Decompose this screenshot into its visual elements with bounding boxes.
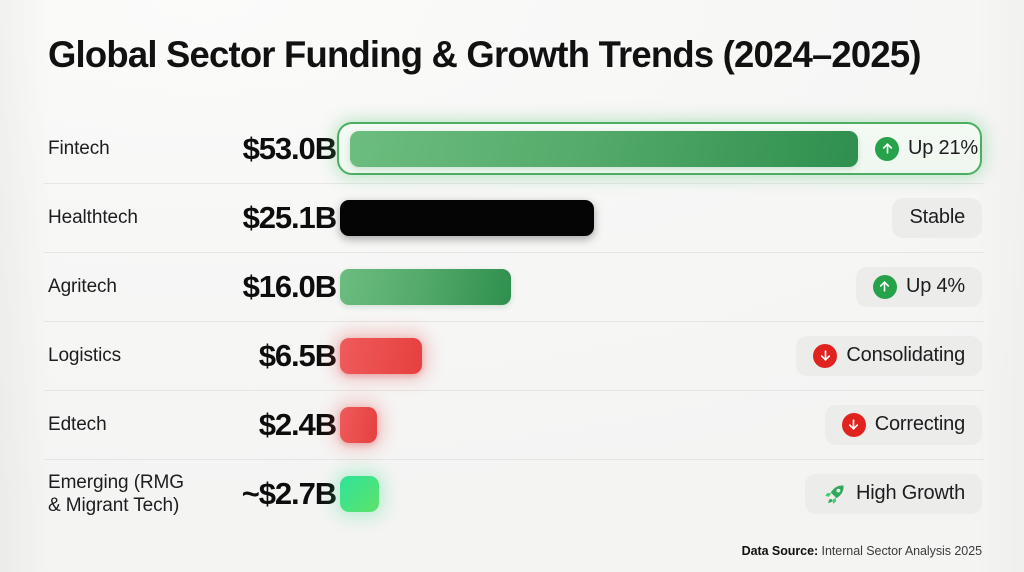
bar-track: Up 4% [340, 252, 982, 321]
table-row: Healthtech$25.1BStable [0, 183, 1024, 252]
funding-bar [340, 269, 511, 305]
status-label: High Growth [856, 482, 965, 505]
table-row: Logistics$6.5BConsolidating [0, 321, 1024, 390]
status-label: Up 4% [906, 275, 965, 298]
status-label: Correcting [875, 413, 965, 436]
data-source-footer: Data Source: Internal Sector Analysis 20… [742, 544, 982, 558]
sector-name: Emerging (RMG& Migrant Tech) [48, 471, 214, 517]
status-badge[interactable]: Up 21% [858, 129, 990, 169]
sector-name-line1: Healthtech [48, 207, 138, 228]
rocket-icon [822, 481, 847, 506]
sector-name-line1: Edtech [48, 414, 107, 435]
chart-card: Global Sector Funding & Growth Trends (2… [0, 0, 1024, 572]
sector-name: Agritech [48, 275, 214, 298]
sector-name-line1: Logistics [48, 345, 121, 366]
status-label: Up 21% [908, 137, 978, 160]
funding-value: $25.1B [214, 200, 340, 236]
arrow-down-circle-icon [813, 344, 837, 368]
status-label: Stable [909, 206, 965, 229]
funding-bar [340, 407, 377, 443]
sector-name: Edtech [48, 413, 214, 436]
table-row: Fintech$53.0BUp 21% [0, 114, 1024, 183]
arrow-up-circle-icon [875, 137, 899, 161]
funding-value: $53.0B [214, 131, 340, 167]
sector-name: Healthtech [48, 206, 214, 229]
funding-bar [340, 338, 422, 374]
funding-value: $2.4B [214, 407, 340, 443]
funding-value: ~$2.7B [214, 476, 340, 512]
status-badge[interactable]: High Growth [805, 474, 982, 514]
sector-name-line1: Fintech [48, 138, 110, 159]
sector-name-line1: Emerging (RMG [48, 472, 184, 493]
status-badge[interactable]: Stable [892, 198, 982, 238]
funding-bar [350, 131, 858, 167]
sector-name: Logistics [48, 344, 214, 367]
page-title: Global Sector Funding & Growth Trends (2… [48, 34, 974, 76]
sector-name-line2: & Migrant Tech) [48, 494, 214, 517]
funding-bar [340, 476, 379, 512]
table-row: Edtech$2.4BCorrecting [0, 390, 1024, 459]
sector-name: Fintech [48, 137, 214, 160]
arrow-up-circle-icon [873, 275, 897, 299]
status-label: Consolidating [846, 344, 965, 367]
status-badge[interactable]: Consolidating [796, 336, 982, 376]
table-row: Emerging (RMG& Migrant Tech)~$2.7BHigh G… [0, 459, 1024, 528]
funding-value: $6.5B [214, 338, 340, 374]
status-badge[interactable]: Up 4% [856, 267, 982, 307]
status-badge[interactable]: Correcting [825, 405, 982, 445]
data-source-value: Internal Sector Analysis 2025 [822, 544, 982, 558]
funding-value: $16.0B [214, 269, 340, 305]
bar-track: High Growth [340, 459, 982, 528]
bar-track: Stable [340, 183, 982, 252]
data-source-label: Data Source: [742, 544, 819, 558]
bar-track: Consolidating [340, 321, 982, 390]
funding-bar [340, 200, 594, 236]
sector-name-line1: Agritech [48, 276, 117, 297]
bar-track: Correcting [340, 390, 982, 459]
sector-row-list: Fintech$53.0BUp 21%Healthtech$25.1BStabl… [0, 114, 1024, 528]
arrow-down-circle-icon [842, 413, 866, 437]
table-row: Agritech$16.0BUp 4% [0, 252, 1024, 321]
